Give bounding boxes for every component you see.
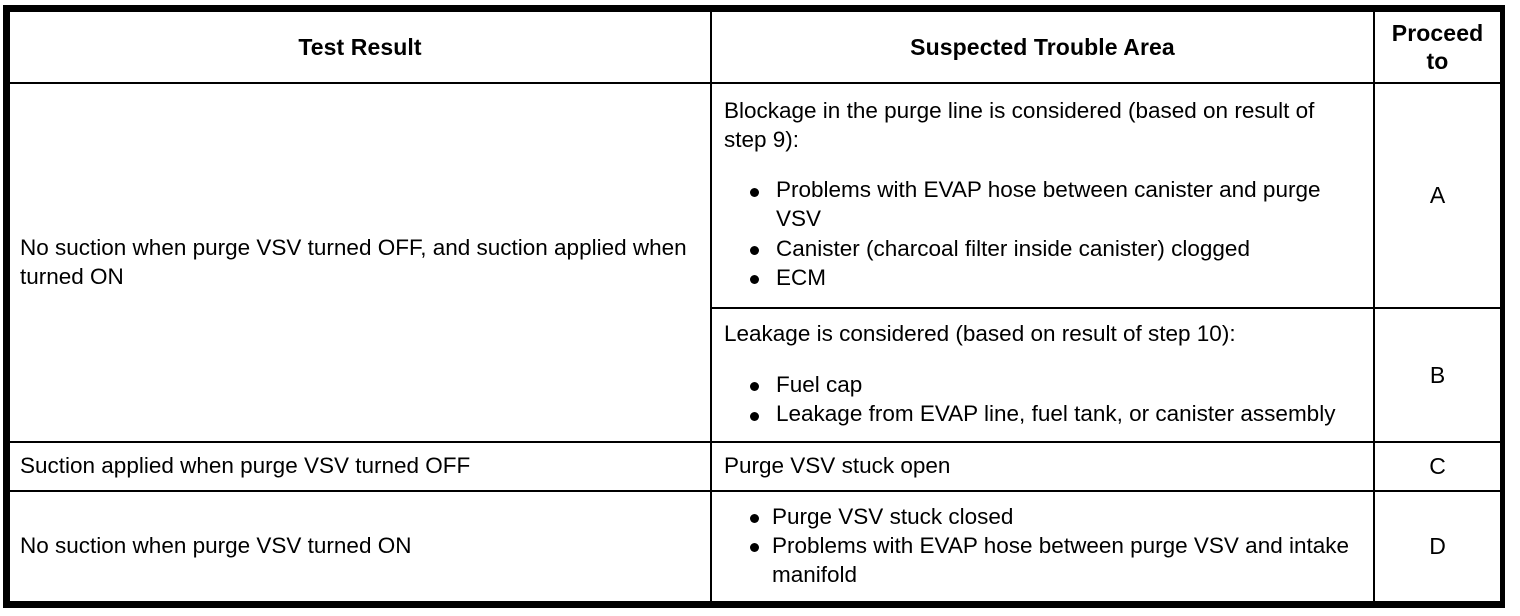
list-item-label: Fuel cap: [776, 372, 862, 397]
list-item: ECM: [724, 264, 1363, 293]
trouble-area-bullets-1a: Problems with EVAP hose between canister…: [724, 176, 1363, 292]
header-suspected-trouble-area: Suspected Trouble Area: [711, 11, 1374, 83]
bullet-icon: [750, 246, 759, 255]
header-proceed-to: Proceed to: [1374, 11, 1501, 83]
diagnostic-table: Test Result Suspected Trouble Area Proce…: [8, 10, 1502, 603]
trouble-area-intro-1a: Blockage in the purge line is considered…: [724, 97, 1363, 154]
bullet-icon: [750, 382, 759, 391]
list-item-label: ECM: [776, 265, 826, 290]
header-test-result: Test Result: [9, 11, 711, 83]
list-item: Problems with EVAP hose between purge VS…: [724, 532, 1363, 589]
trouble-area-cell-1b: Leakage is considered (based on result o…: [711, 308, 1374, 442]
trouble-area-content-3: Purge VSV stuck closed Problems with EVA…: [712, 495, 1373, 599]
table-body: No suction when purge VSV turned OFF, an…: [9, 83, 1501, 602]
list-item: Fuel cap: [724, 371, 1363, 400]
test-result-text-2: Suction applied when purge VSV turned OF…: [10, 446, 710, 487]
test-result-cell-3: No suction when purge VSV turned ON: [9, 491, 711, 602]
trouble-area-bullets-1b: Fuel cap Leakage from EVAP line, fuel ta…: [724, 371, 1363, 429]
trouble-area-content-2: Purge VSV stuck open: [712, 444, 1373, 489]
bullet-icon: [750, 543, 759, 552]
list-item-label: Purge VSV stuck closed: [772, 504, 1013, 529]
list-item: Purge VSV stuck closed: [724, 503, 1363, 532]
trouble-area-content-1b: Leakage is considered (based on result o…: [712, 312, 1373, 438]
proceed-to-cell-b: B: [1374, 308, 1501, 442]
list-item-label: Problems with EVAP hose between purge VS…: [772, 533, 1349, 587]
trouble-area-cell-2: Purge VSV stuck open: [711, 442, 1374, 491]
bullet-icon: [750, 188, 759, 197]
trouble-area-bullets-3: Purge VSV stuck closed Problems with EVA…: [724, 503, 1363, 590]
list-item-label: Problems with EVAP hose between canister…: [776, 177, 1320, 231]
table-row: No suction when purge VSV turned OFF, an…: [9, 83, 1501, 308]
trouble-area-content-1a: Blockage in the purge line is considered…: [712, 89, 1373, 301]
table-row: No suction when purge VSV turned ON Purg…: [9, 491, 1501, 602]
list-item: Leakage from EVAP line, fuel tank, or ca…: [724, 400, 1363, 429]
bullet-icon: [750, 412, 759, 421]
proceed-to-cell-a: A: [1374, 83, 1501, 308]
header-proceed-to-line2: to: [1427, 48, 1449, 74]
header-proceed-to-line1: Proceed: [1392, 20, 1483, 46]
table-row: Suction applied when purge VSV turned OF…: [9, 442, 1501, 491]
table-header: Test Result Suspected Trouble Area Proce…: [9, 11, 1501, 83]
diagnostic-table-container: Test Result Suspected Trouble Area Proce…: [3, 5, 1505, 608]
bullet-icon: [750, 514, 759, 523]
proceed-to-cell-c: C: [1374, 442, 1501, 491]
test-result-cell-2: Suction applied when purge VSV turned OF…: [9, 442, 711, 491]
trouble-area-cell-1a: Blockage in the purge line is considered…: [711, 83, 1374, 308]
list-item-label: Leakage from EVAP line, fuel tank, or ca…: [776, 401, 1335, 426]
proceed-to-cell-d: D: [1374, 491, 1501, 602]
list-item: Problems with EVAP hose between canister…: [724, 176, 1363, 233]
trouble-area-cell-3: Purge VSV stuck closed Problems with EVA…: [711, 491, 1374, 602]
list-item: Canister (charcoal filter inside caniste…: [724, 235, 1363, 264]
test-result-cell-1: No suction when purge VSV turned OFF, an…: [9, 83, 711, 442]
list-item-label: Canister (charcoal filter inside caniste…: [776, 236, 1250, 261]
test-result-text-3: No suction when purge VSV turned ON: [10, 526, 710, 567]
bullet-icon: [750, 275, 759, 284]
header-row: Test Result Suspected Trouble Area Proce…: [9, 11, 1501, 83]
trouble-area-intro-1b: Leakage is considered (based on result o…: [724, 320, 1363, 349]
test-result-text-1: No suction when purge VSV turned OFF, an…: [10, 228, 710, 297]
trouble-area-intro-2: Purge VSV stuck open: [724, 452, 1363, 481]
